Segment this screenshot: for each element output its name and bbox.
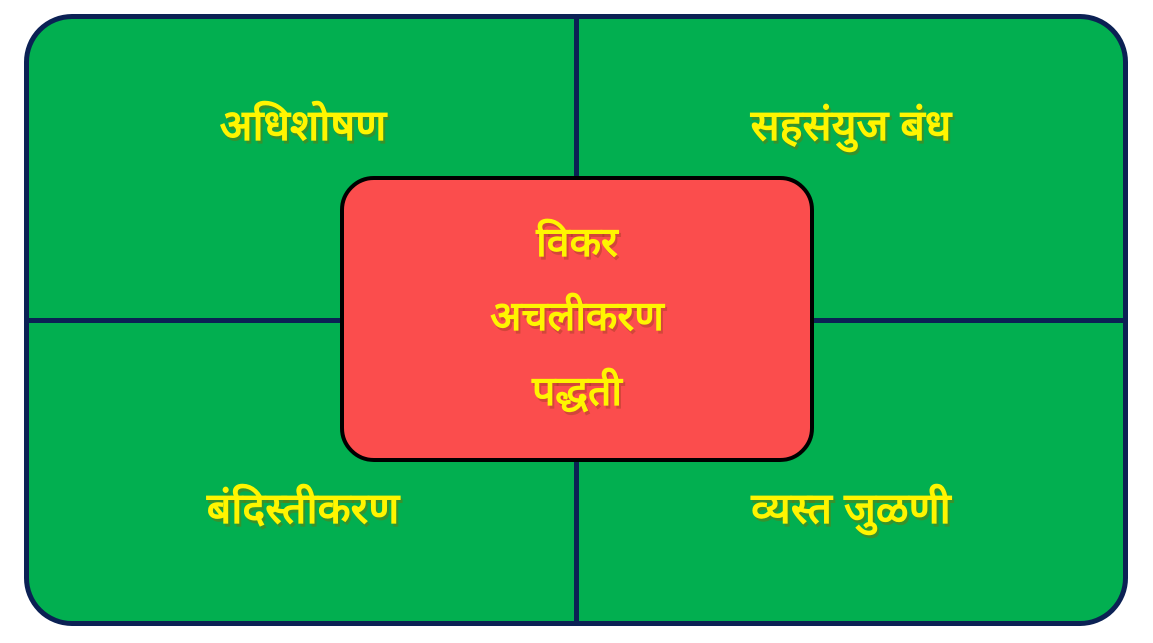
diagram-canvas: अधिशोषण सहसंयुज बंध बंदिस्तीकरण व्यस्त ज…: [0, 0, 1153, 643]
quadrant-label-top-right: सहसंयुज बंध: [578, 92, 1124, 162]
center-label-line-1: विकर: [536, 220, 618, 265]
center-concept-box: विकर अचलीकरण पद्धती: [340, 176, 814, 462]
center-label-line-2: अचलीकरण: [490, 294, 664, 339]
quadrant-label-bottom-right: व्यस्त जुळणी: [578, 475, 1124, 545]
quadrant-label-bottom-left: बंदिस्तीकरण: [30, 475, 576, 545]
quadrant-label-top-left: अधिशोषण: [30, 92, 576, 162]
center-label-line-3: पद्धती: [532, 369, 622, 414]
